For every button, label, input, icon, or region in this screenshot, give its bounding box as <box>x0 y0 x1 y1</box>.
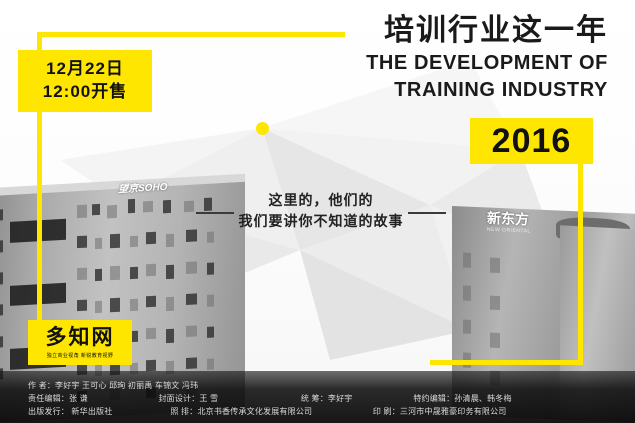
credits-cover-design: 封面设计：王 雪 <box>158 392 298 405</box>
tagline-line2: 我们要讲你不知道的故事 <box>196 211 446 232</box>
frame-line-bottom-right <box>430 360 583 365</box>
headline-block: 培训行业这一年 THE DEVELOPMENT OF TRAINING INDU… <box>308 14 608 102</box>
credits-block: 作 者：李好宇 王可心 邱珣 初丽禹 车锦文 冯玮 责任编辑：张 谦 封面设计：… <box>28 379 613 418</box>
year-label: 2016 <box>492 122 572 161</box>
credits-authors: 作 者：李好宇 王可心 邱珣 初丽禹 车锦文 冯玮 <box>28 379 198 392</box>
release-date-line1: 12月22日 <box>46 58 124 81</box>
credits-contributing-editors: 特约编辑：孙清晨、韩冬梅 <box>413 392 511 405</box>
duozhi-logo: 多知网 独立商业视角 新锐教育视野 <box>28 320 132 365</box>
credits-printing: 印 刷：三河市中晟雅豪印务有限公司 <box>373 405 507 418</box>
tagline-line1: 这里的，他们的 <box>196 190 446 211</box>
accent-dot <box>256 122 269 135</box>
title-english-line2: TRAINING INDUSTRY <box>308 78 608 102</box>
duozhi-logo-slogan: 独立商业视角 新锐教育视野 <box>47 352 114 359</box>
frame-line-right <box>578 160 583 365</box>
frame-line-top <box>37 32 345 37</box>
credits-producer: 统 筹：李好宇 <box>301 392 411 405</box>
credits-row-2: 责任编辑：张 谦 封面设计：王 雪 统 筹：李好宇 特约编辑：孙清晨、韩冬梅 <box>28 392 613 405</box>
year-badge: 2016 <box>470 118 593 164</box>
credits-editor: 责任编辑：张 谦 <box>28 392 156 405</box>
release-date-line2: 12:00开售 <box>43 81 127 104</box>
poster-root: 12月22日 12:00开售 培训行业这一年 THE DEVELOPMENT O… <box>0 0 635 423</box>
title-chinese: 培训行业这一年 <box>308 14 608 48</box>
new-oriental-sign: 新东方 NEW ORIENTAL <box>487 211 547 234</box>
credits-row-1: 作 者：李好宇 王可心 邱珣 初丽禹 车锦文 冯玮 <box>28 379 613 392</box>
duozhi-logo-name: 多知网 <box>46 327 115 348</box>
credits-publisher: 出版发行： 新华出版社 <box>28 405 168 418</box>
credits-row-3: 出版发行： 新华出版社 照 排：北京书香传承文化发展有限公司 印 刷：三河市中晟… <box>28 405 613 418</box>
new-oriental-sign-cn: 新东方 <box>487 211 529 227</box>
release-date-badge: 12月22日 12:00开售 <box>18 50 152 112</box>
tagline-block: 这里的，他们的 我们要讲你不知道的故事 <box>196 190 446 232</box>
credits-typesetting: 照 排：北京书香传承文化发展有限公司 <box>170 405 370 418</box>
title-english-line1: THE DEVELOPMENT OF <box>308 51 608 75</box>
